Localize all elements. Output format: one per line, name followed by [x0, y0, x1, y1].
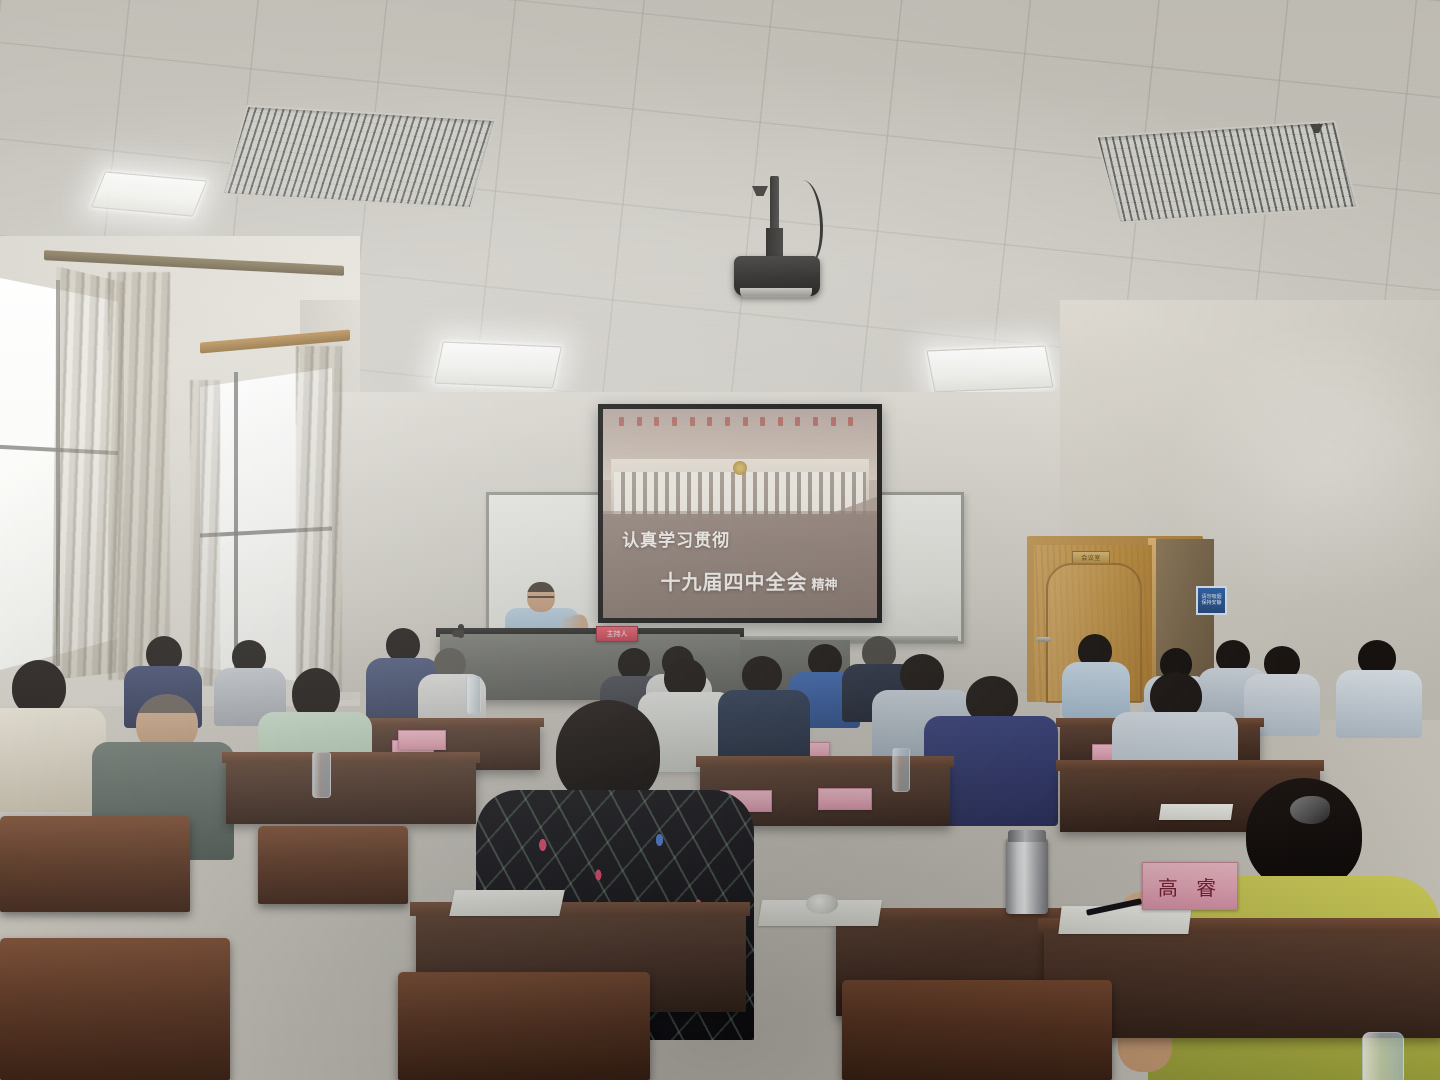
wall-sign: 请勿吸烟 保持安静 — [1196, 586, 1227, 615]
ceiling-vent-icon — [1095, 120, 1358, 223]
slide-headline-suffix: 精神 — [812, 574, 838, 593]
desk-top — [696, 756, 954, 767]
name-card: 主持人 — [596, 626, 638, 642]
vacuum-flask — [1006, 838, 1048, 914]
attendee-torso — [0, 708, 106, 812]
slide-headline-line2: 十九届四中全会 精神 — [661, 566, 838, 595]
curtain — [108, 272, 170, 680]
curtain — [296, 346, 342, 692]
attendee-head — [1246, 778, 1362, 890]
hair-clip — [1290, 796, 1330, 824]
projector-lens — [740, 288, 812, 299]
window-mullion — [234, 372, 238, 682]
slide-flag-row — [614, 417, 866, 450]
ceiling-panel-light — [434, 341, 562, 388]
slide-headline-main: 十九届四中全会 — [661, 566, 808, 595]
curtain — [190, 380, 220, 686]
handout-papers — [1159, 804, 1233, 820]
wall-sign-line2: 保持安静 — [1201, 601, 1221, 606]
desk-top — [1056, 760, 1324, 771]
attendee-torso — [1336, 670, 1422, 738]
chair-back[interactable] — [0, 938, 230, 1080]
attendee-head — [742, 656, 782, 694]
chair-back[interactable] — [842, 980, 1112, 1080]
water-bottle — [312, 752, 331, 798]
vacuum-flask-cap — [1008, 830, 1046, 842]
name-card — [818, 788, 872, 810]
chair-back[interactable] — [398, 972, 650, 1080]
water-bottle — [466, 676, 481, 714]
microphone-base — [452, 630, 464, 637]
water-bottle — [892, 748, 910, 792]
cup — [806, 894, 838, 914]
glasses-icon — [528, 596, 554, 602]
desk-top — [222, 752, 480, 763]
meeting-room-photo: 认真学习贯彻 十九届四中全会 精神 会议室 请勿吸烟 保持安静 主持人 — [0, 0, 1440, 1080]
attendee-torso — [1062, 662, 1130, 718]
attendee-head — [556, 700, 660, 804]
name-card — [398, 730, 446, 750]
desk — [226, 760, 476, 824]
handout-papers — [1058, 906, 1191, 934]
projector-mount — [770, 176, 779, 232]
attendee-head — [386, 628, 420, 662]
handout-papers — [449, 890, 565, 916]
chair-back[interactable] — [0, 816, 190, 912]
projection-screen: 认真学习贯彻 十九届四中全会 精神 — [598, 404, 882, 623]
door-handle[interactable] — [1036, 637, 1051, 642]
slide-headline-line1: 认真学习贯彻 — [622, 526, 730, 551]
ceiling-vent-icon — [221, 105, 497, 209]
door-plate: 会议室 — [1072, 551, 1110, 564]
chair-back[interactable] — [258, 826, 408, 904]
ceiling-panel-light — [926, 345, 1053, 392]
projection-screen-surface: 认真学习贯彻 十九届四中全会 精神 — [603, 409, 877, 618]
water-bottle — [1362, 1032, 1404, 1080]
name-card: 高 睿 — [1142, 862, 1238, 910]
